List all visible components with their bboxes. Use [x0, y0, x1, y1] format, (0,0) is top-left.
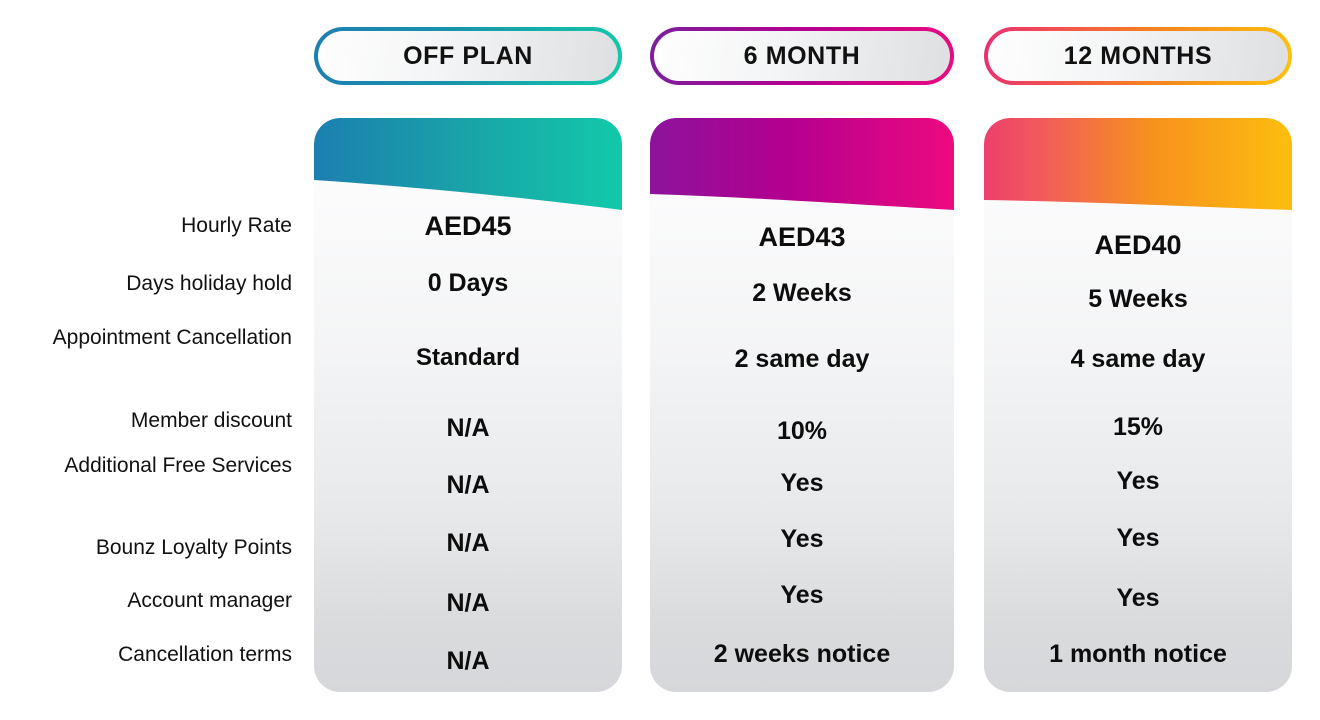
plan-value-appointment-cancellation: 4 same day	[984, 346, 1292, 374]
plan-value-hourly-rate: AED40	[984, 231, 1292, 261]
plan-values-6-month: AED43 2 Weeks 2 same day 10% Yes Yes Yes…	[650, 118, 954, 692]
plan-value-hourly-rate: AED45	[314, 212, 622, 242]
row-label-days-holiday-hold: Days holiday hold	[0, 270, 292, 298]
plan-header-pill-fill: 6 MONTH	[654, 31, 950, 81]
plan-value-days-holiday-hold: 2 Weeks	[650, 280, 954, 308]
plan-value-bounz-loyalty-points: Yes	[650, 526, 954, 554]
row-label-cancellation-terms: Cancellation terms	[0, 641, 292, 669]
row-label-bounz-loyalty-points: Bounz Loyalty Points	[0, 534, 292, 562]
plan-value-cancellation-terms: N/A	[314, 648, 622, 676]
plan-value-account-manager: N/A	[314, 590, 622, 618]
plan-card-12-months[interactable]: AED40 5 Weeks 4 same day 15% Yes Yes Yes…	[984, 118, 1292, 692]
plan-value-bounz-loyalty-points: Yes	[984, 525, 1292, 553]
plan-header-pill-fill: 12 MONTHS	[988, 31, 1288, 81]
plan-header-pill-12-months[interactable]: 12 MONTHS	[984, 27, 1292, 85]
row-label-account-manager: Account manager	[0, 587, 292, 615]
plan-value-additional-free-services: Yes	[650, 470, 954, 498]
plan-header-pill-fill: OFF PLAN	[318, 31, 618, 81]
comparison-table: Hourly Rate Days holiday hold Appointmen…	[0, 0, 1320, 720]
plan-value-days-holiday-hold: 5 Weeks	[984, 286, 1292, 314]
plan-value-member-discount: 15%	[984, 414, 1292, 442]
plan-header-label: 6 MONTH	[744, 42, 861, 71]
plan-value-cancellation-terms: 1 month notice	[984, 641, 1292, 669]
plan-value-member-discount: N/A	[314, 415, 622, 443]
plan-header-pill-off-plan[interactable]: OFF PLAN	[314, 27, 622, 85]
plan-values-off-plan: AED45 0 Days Standard N/A N/A N/A N/A N/…	[314, 118, 622, 692]
plan-value-member-discount: 10%	[650, 418, 954, 446]
row-label-hourly-rate: Hourly Rate	[0, 212, 292, 240]
plan-value-hourly-rate: AED43	[650, 223, 954, 253]
plan-value-additional-free-services: Yes	[984, 468, 1292, 496]
plan-value-appointment-cancellation: 2 same day	[650, 346, 954, 374]
plan-values-12-months: AED40 5 Weeks 4 same day 15% Yes Yes Yes…	[984, 118, 1292, 692]
plan-value-cancellation-terms: 2 weeks notice	[650, 641, 954, 669]
row-label-member-discount: Member discount	[0, 407, 292, 435]
plan-value-bounz-loyalty-points: N/A	[314, 530, 622, 558]
row-label-appointment-cancellation: Appointment Cancellation	[0, 322, 292, 355]
plan-header-pill-6-month[interactable]: 6 MONTH	[650, 27, 954, 85]
plan-value-account-manager: Yes	[650, 582, 954, 610]
plan-value-days-holiday-hold: 0 Days	[314, 270, 622, 298]
plan-card-6-month[interactable]: AED43 2 Weeks 2 same day 10% Yes Yes Yes…	[650, 118, 954, 692]
plan-value-appointment-cancellation: Standard	[314, 345, 622, 371]
plan-value-account-manager: Yes	[984, 585, 1292, 613]
plan-header-label: 12 MONTHS	[1064, 42, 1212, 71]
row-label-additional-free-services: Additional Free Services	[0, 450, 292, 483]
plan-header-label: OFF PLAN	[403, 42, 533, 71]
plan-value-additional-free-services: N/A	[314, 472, 622, 500]
plan-card-off-plan[interactable]: AED45 0 Days Standard N/A N/A N/A N/A N/…	[314, 118, 622, 692]
